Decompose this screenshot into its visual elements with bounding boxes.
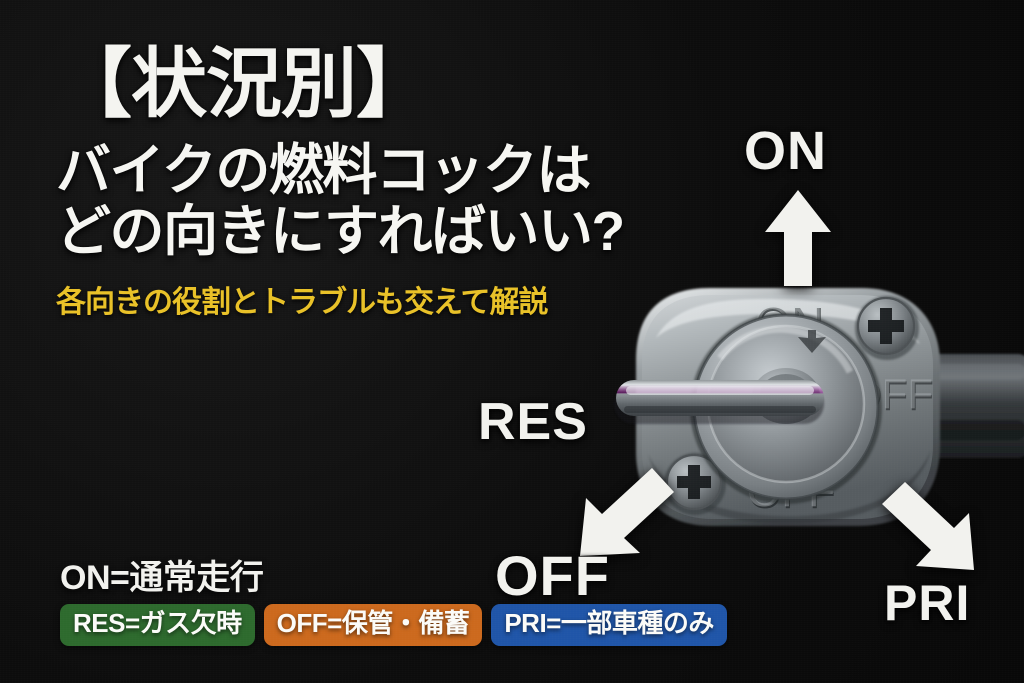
legend-badge-off: OFF=保管・備蓄 — [264, 604, 483, 646]
callout-label-pri: PRI — [884, 574, 970, 632]
headline-kicker: 【状況別】 — [56, 46, 716, 124]
legend-badge-row: RES=ガス欠時 OFF=保管・備蓄 PRI=一部車種のみ — [60, 604, 727, 646]
legend-primary-text: ON=通常走行 — [60, 550, 263, 599]
phillips-screw-top-right — [855, 296, 919, 360]
callout-label-off: OFF — [495, 543, 610, 608]
headline-subtitle: 各向きの役割とトラブルも交えて解説 — [56, 277, 716, 321]
headline-block: 【状況別】 バイクの燃料コックは どの向きにすればいい? 各向きの役割とトラブル… — [56, 46, 716, 321]
callout-label-res: RES — [478, 392, 588, 452]
arrow-down-right-icon — [882, 482, 974, 570]
arrow-up-icon — [765, 190, 831, 286]
legend-badge-res: RES=ガス欠時 — [60, 604, 255, 646]
headline-line-1: バイクの燃料コックは — [56, 140, 716, 202]
thumbnail-canvas: ON ON OFF OFF OFF OFF — [0, 0, 1024, 683]
legend-badge-pri: PRI=一部車種のみ — [491, 604, 727, 646]
callout-label-on: ON — [744, 120, 827, 182]
headline-line-2: どの向きにすればいい? — [56, 201, 716, 263]
petcock-lever — [614, 380, 824, 424]
